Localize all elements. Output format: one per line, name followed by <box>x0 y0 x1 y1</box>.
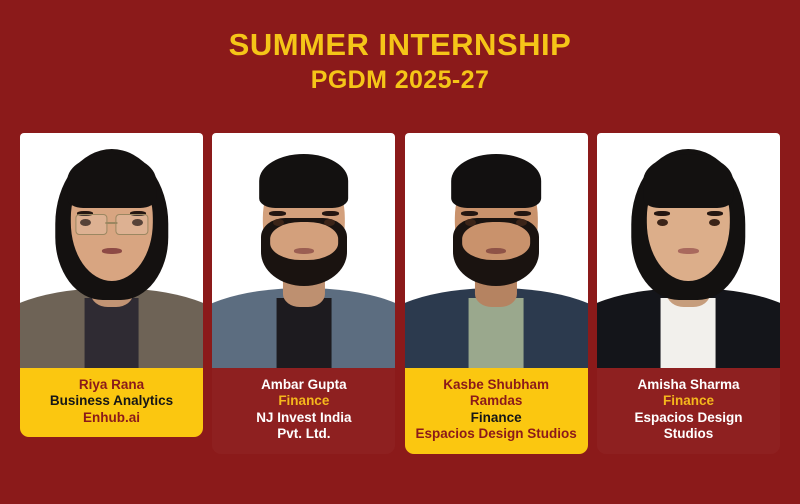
student-name: Ambar Gupta <box>218 377 389 393</box>
portrait-eye-right <box>709 219 720 226</box>
portrait-hair <box>259 154 349 208</box>
student-caption: Riya RanaBusiness AnalyticsEnhub.ai <box>20 368 203 437</box>
glasses-icon <box>75 214 148 233</box>
student-name: Riya Rana <box>26 377 197 393</box>
portrait-cheeks <box>270 222 338 260</box>
student-caption: Ambar GuptaFinanceNJ Invest IndiaPvt. Lt… <box>212 368 395 454</box>
portrait-mouth <box>294 248 314 254</box>
poster-header: SUMMER INTERNSHIP PGDM 2025-27 <box>0 0 800 97</box>
student-major: Finance <box>603 393 774 409</box>
glasses-lens-right <box>115 214 148 235</box>
portrait-eye-right <box>516 219 527 226</box>
student-card: Riya RanaBusiness AnalyticsEnhub.ai <box>20 133 203 437</box>
student-card-list: Riya RanaBusiness AnalyticsEnhub.aiAmbar… <box>20 133 780 458</box>
student-name: Amisha Sharma <box>603 377 774 393</box>
portrait-eyebrow-left <box>461 211 477 216</box>
student-caption: Kasbe ShubhamRamdasFinanceEspacios Desig… <box>405 368 588 454</box>
portrait-eyebrow-left <box>269 211 285 216</box>
portrait-shirt <box>469 298 524 369</box>
student-company: Pvt. Ltd. <box>218 426 389 442</box>
portrait-shirt <box>84 298 139 369</box>
portrait-eyebrow-right <box>322 211 338 216</box>
page-title: SUMMER INTERNSHIP <box>0 28 800 61</box>
portrait-eye-left <box>273 219 284 226</box>
glasses-bridge <box>106 222 118 224</box>
portrait-ambar-gupta <box>212 133 395 368</box>
portrait-eyebrow-right <box>514 211 530 216</box>
student-major: Finance <box>411 410 582 426</box>
page-subtitle: PGDM 2025-27 <box>0 65 800 96</box>
portrait-eyebrow-right <box>707 211 723 216</box>
student-company: Espacios Design Studios <box>411 426 582 442</box>
poster-root: SUMMER INTERNSHIP PGDM 2025-27 Riya Rana… <box>0 0 800 504</box>
student-company: NJ Invest India <box>218 410 389 426</box>
student-name: Kasbe Shubham <box>411 377 582 393</box>
student-company: Espacios Design <box>603 410 774 426</box>
student-caption: Amisha SharmaFinanceEspacios DesignStudi… <box>597 368 780 454</box>
portrait-eye-left <box>657 219 668 226</box>
portrait-hair <box>644 154 734 208</box>
student-company: Studios <box>603 426 774 442</box>
portrait-cheeks <box>462 222 530 260</box>
portrait-eyebrow-left <box>654 211 670 216</box>
portrait-eye-left <box>465 219 476 226</box>
portrait-shirt <box>276 298 331 369</box>
portrait-kasbe-shubham-ramdas <box>405 133 588 368</box>
student-company: Enhub.ai <box>26 410 197 426</box>
student-card: Amisha SharmaFinanceEspacios DesignStudi… <box>597 133 780 454</box>
student-card: Kasbe ShubhamRamdasFinanceEspacios Desig… <box>405 133 588 454</box>
glasses-lens-left <box>75 214 108 235</box>
portrait-shirt <box>661 298 716 369</box>
portrait-mouth <box>101 248 121 254</box>
portrait-hair <box>67 154 157 208</box>
student-major: Finance <box>218 393 389 409</box>
portrait-amisha-sharma <box>597 133 780 368</box>
portrait-riya-rana <box>20 133 203 368</box>
portrait-eye-right <box>324 219 335 226</box>
portrait-hair <box>451 154 541 208</box>
student-card: Ambar GuptaFinanceNJ Invest IndiaPvt. Lt… <box>212 133 395 454</box>
student-major: Business Analytics <box>26 393 197 409</box>
portrait-mouth <box>486 248 506 254</box>
student-name: Ramdas <box>411 393 582 409</box>
portrait-mouth <box>678 248 698 254</box>
